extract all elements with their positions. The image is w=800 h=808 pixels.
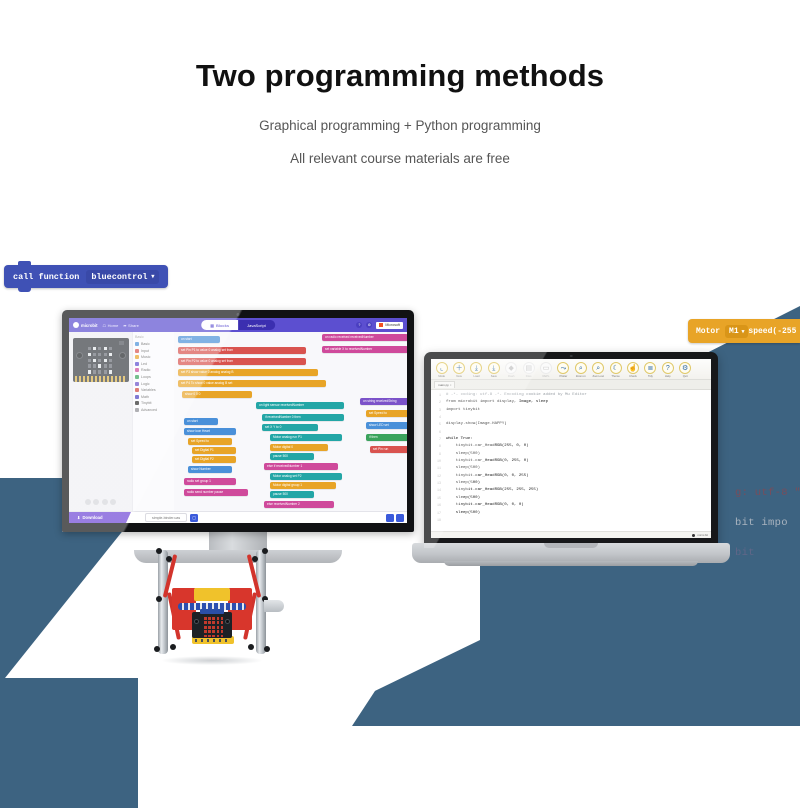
led [208,617,211,620]
makecode-block-label: set Pin P1 to value 0 analog set from [181,348,233,353]
faded-code-line-2: bit impo [735,508,800,538]
led [98,347,101,350]
simulator-fullscreen-icon[interactable] [110,499,116,505]
zoom-in-icon: ⌕ [575,362,587,374]
microbit-led-matrix [204,617,223,637]
plotter-icon: ⤳ [557,362,569,374]
robot-chassis [172,588,252,644]
makecode-block[interactable]: on string receivedString [360,398,407,405]
makecode-bottom-bar: ⬇ Download simple-binder.uas ▢ [69,511,407,523]
mu-toolbar-button-label: Tidy [648,375,653,378]
mu-toolbar-button-label: Load [473,375,479,378]
makecode-block[interactable]: set variable X to receivedNumber [322,346,407,353]
hero-subtitle-1: Graphical programming + Python programmi… [0,119,800,134]
toolbox-header: Basic [135,335,172,339]
simulator-controls[interactable] [85,499,117,507]
led [208,621,211,624]
theme-icon: ☾ [610,362,622,374]
code-line-number: 4 [431,414,441,421]
category-label: Advanced [141,408,157,412]
led [93,364,96,367]
toolbox-category[interactable]: Led [135,362,172,366]
quit-icon: ⚙ [679,362,691,374]
makecode-block-label: set Pin P2 to value 0 analog set from [181,359,233,364]
simulator-button-a[interactable] [76,352,83,359]
toolbox-category[interactable]: Input [135,349,172,353]
makecode-block[interactable]: set Pin run [370,446,407,453]
mu-toolbar-zoom-in-button[interactable]: ⌕Zoom-in [572,362,589,378]
save-icon: ⤓ [488,362,500,374]
mu-toolbar-load-button[interactable]: ⤓Load [468,362,485,378]
category-color-swatch [135,395,139,399]
mu-toolbar-save-button[interactable]: ⤓Save [485,362,502,378]
led [98,364,101,367]
led [221,626,224,629]
category-label: Variables [141,388,156,392]
code-line-number: 15 [431,495,441,502]
category-color-swatch [135,342,139,346]
microbit-logo-icon [73,322,79,328]
makecode-block[interactable]: set Digital P1 [192,447,236,454]
laptop-lid-notch [544,543,598,548]
category-color-swatch [135,368,139,372]
makecode-topbar: microbit ☖ Home ➦ Share ▦ Blocks Java [69,318,407,332]
code-line: from microbit import display, Image, sle… [446,399,711,406]
robot-yellow-plate [194,588,230,601]
makecode-block-label: show Number [191,467,211,472]
led [208,626,211,629]
code-line: tinybit.car_HeadRGB(0, 0, 0) [446,502,711,509]
led [204,617,207,620]
code-line: sleep(500) [446,495,711,502]
makecode-block-label: set Digital P1 [195,448,214,453]
filename-input[interactable]: simple-binder.uas [145,513,187,522]
toolbox-category[interactable]: Advanced [135,408,172,412]
mu-toolbar-quit-button[interactable]: ⚙Quit [676,362,693,378]
makecode-share-button[interactable]: ➦ Share [123,323,139,328]
mu-toolbar-help-button[interactable]: ?Help [659,362,676,378]
tab-blocks[interactable]: ▦ Blocks [201,320,238,330]
mu-toolbar-button-label: Check [629,375,637,378]
led [217,626,220,629]
category-color-swatch [135,401,139,405]
makecode-block[interactable]: if receivedNumber 0 then [262,414,344,421]
gear-icon[interactable]: ⚙ [366,322,372,328]
mu-editor-code-area[interactable]: 123456789101112131415161718 # -*- coding… [431,390,711,531]
makecode-home-button[interactable]: ☖ Home [103,323,119,328]
download-icon: ⬇ [77,515,81,520]
robot-knob [264,646,270,652]
code-line: tinybit.car_HeadRGB(255, 0, 0) [446,443,711,450]
makecode-block-label: on light sensor receivedNumber [259,403,304,408]
code-line-number: 7 [431,436,441,443]
makecode-block[interactable]: on light sensor receivedNumber [256,402,344,409]
code-line-number: 10 [431,458,441,465]
mu-editor-tab-bar[interactable]: main.py × [431,380,711,390]
robot-base-connectors [195,639,231,642]
led [221,630,224,633]
code-text[interactable]: # -*- coding: utf-8 -*- Encoding cookie … [444,390,711,531]
makecode-block-label: radio send number pause [187,490,223,495]
mode-icon: ⌞ [436,362,448,374]
led [109,347,112,350]
category-label: Tinybit [141,401,151,405]
mu-toolbar-tidy-button[interactable]: ≣Tidy [642,362,659,378]
status-device-label: micro:bit [697,533,708,537]
makecode-block-label: set variable X to receivedNumber [325,347,372,352]
simulator-stop-icon[interactable] [93,499,99,505]
mu-toolbar-files-button: ▤Files [520,362,537,378]
makecode-block[interactable]: Motor digital 0 [270,444,328,451]
category-label: Input [141,349,149,353]
code-line: tinybit.car_HeadRGB(0, 255, 0) [446,458,711,465]
block-notch-bottom [700,342,712,343]
makecode-block-label: pause 500 [273,492,288,497]
mu-toolbar-button-label: Flash [508,375,515,378]
block-dropdown-value: M1 [729,327,739,336]
led [208,635,211,638]
toolbox-category[interactable]: Logic [135,382,172,386]
makecode-view-toggle[interactable]: ▦ Blocks JavaScript [201,320,275,330]
toolbox-category-list[interactable]: BasicInputMusicLedRadioLoopsLogicVariabl… [135,342,172,412]
makecode-block-label: on start [181,337,192,342]
code-line-number: 3 [431,407,441,414]
led [104,347,107,350]
makecode-block-label: show icon Heart [187,429,210,434]
code-line [446,414,711,421]
block-label-call-function: call function [13,272,79,282]
code-line-number: 5 [431,421,441,428]
block-dropdown-motor-port[interactable]: M1 ▾ [725,325,748,338]
microsoft-logo-icon [379,323,383,327]
makecode-block[interactable]: radio send number pause [184,489,248,496]
led [221,617,224,620]
led [109,359,112,362]
led [93,353,96,356]
makecode-logo-label: microbit [81,323,98,328]
makecode-block[interactable]: set Pin P1 to value 0 analog set from [178,347,306,354]
simulator-restart-icon[interactable] [85,499,91,505]
chevron-down-icon: ▾ [151,273,154,280]
led [88,353,91,356]
makecode-block-label: if receivedNumber 0 then [265,415,301,420]
floating-block-call-function[interactable]: call function bluecontrol ▾ [4,265,168,288]
makecode-share-label: Share [128,323,139,328]
simulator-led-matrix [88,347,113,374]
led [212,626,215,629]
toolbox-category[interactable]: Loops [135,375,172,379]
close-icon[interactable]: × [450,383,452,387]
load-icon: ⤓ [470,362,482,374]
makecode-block[interactable]: show LED set [366,422,407,429]
makecode-block[interactable]: set Digital P2 [192,456,236,463]
mu-toolbar-check-button[interactable]: ☝Check [624,362,641,378]
led [212,621,215,624]
blocks-icon: ▦ [210,323,214,328]
makecode-block-label: pause 500 [273,454,288,459]
makecode-block[interactable]: if then [366,434,407,441]
help-icon: ? [662,362,674,374]
led [208,630,211,633]
makecode-block-label: set Pin run [373,447,388,452]
code-line: tinybit.car_HeadRGB(0, 0, 255) [446,473,711,480]
led [88,364,91,367]
simulator-button-b[interactable] [119,352,126,359]
save-button[interactable]: ▢ [190,514,198,522]
category-label: Math [141,395,149,399]
makecode-block-canvas[interactable]: on startset Pin P1 to value 0 analog set… [174,332,407,511]
microsoft-badge[interactable]: Microsoft [376,322,403,329]
code-line-number: 1 [431,392,441,399]
tab-main-py[interactable]: main.py × [434,381,455,388]
category-label: Radio [141,368,150,372]
code-line: sleep(500) [446,510,711,517]
block-dropdown-value: bluecontrol [91,272,147,282]
category-color-swatch [135,382,139,386]
toolbox-category[interactable]: Basic [135,342,172,346]
code-line-number: 2 [431,399,441,406]
makecode-block-label: on string receivedString [363,399,397,404]
microbit-robot-car [148,548,276,666]
code-line: sleep(500) [446,451,711,458]
makecode-block-label: radio set group 1 [187,479,211,484]
led [88,359,91,362]
code-line [446,429,711,436]
faded-code-overlay: g: utf-8 " bit impo bit [735,478,800,568]
robot-knob [262,548,268,554]
makecode-block-label: set Speed to [369,411,387,416]
mu-toolbar-button-label: Mode [438,375,445,378]
led [217,617,220,620]
led [212,617,215,620]
faded-code-line-3: bit [735,538,800,568]
mu-toolbar-button-label: Plotter [560,375,568,378]
new-icon: ＋ [453,362,465,374]
makecode-block-label: else receivedNumber 2 [267,502,300,507]
robot-shadow [162,656,262,665]
download-label: Download [83,515,103,520]
mu-toolbar-button-label: REPL [543,375,550,378]
robot-left-rod [158,550,168,654]
led [212,630,215,633]
microbit-button-b [225,619,230,624]
led [93,359,96,362]
mu-toolbar-mode-button[interactable]: ⌞Mode [433,362,450,378]
mu-toolbar-plotter-button[interactable]: ⤳Plotter [555,362,572,378]
mu-toolbar-button-label: Theme [611,375,619,378]
code-line-number: 12 [431,473,441,480]
toolbox-category[interactable]: Variables [135,388,172,392]
desktop-monitor: microbit ☖ Home ➦ Share ▦ Blocks Java [62,310,414,560]
toolbox-category[interactable]: Radio [135,368,172,372]
hero-subtitle-2: All relevant course materials are free [0,151,800,166]
led [204,630,207,633]
makecode-block-label: set Speed to [191,439,209,444]
makecode-block-label: set Digital P2 [195,457,214,462]
mu-editor-window[interactable]: ⌞Mode＋New⤓Load⤓Save◆Flash▤Files▭REPL⤳Plo… [431,359,711,538]
led [104,359,107,362]
block-notch-top [700,319,712,320]
makecode-home-label: Home [108,323,119,328]
category-color-swatch [135,388,139,392]
mu-toolbar-new-button[interactable]: ＋New [450,362,467,378]
makecode-bottom-right-buttons[interactable] [386,514,407,522]
mu-editor-toolbar[interactable]: ⌞Mode＋New⤓Load⤓Save◆Flash▤Files▭REPL⤳Plo… [431,359,711,380]
led [104,353,107,356]
files-icon: ▤ [523,362,535,374]
code-line: sleep(500) [446,480,711,487]
led [93,370,96,373]
makecode-block[interactable]: pause 500 [270,491,314,498]
faded-code-line-1: g: utf-8 " [735,478,800,508]
makecode-block[interactable]: on start [178,336,220,343]
toolbox-category[interactable]: Music [135,355,172,359]
makecode-block[interactable]: show 0 0 0 [182,391,252,398]
code-line-number: 6 [431,429,441,436]
robot-knob [252,556,258,562]
code-line: # -*- coding: utf-8 -*- Encoding cookie … [446,392,711,399]
category-color-swatch [135,349,139,353]
microbit-header-strip [200,609,224,614]
check-icon: ☝ [627,362,639,374]
led [109,370,112,373]
makecode-logo[interactable]: microbit [73,322,98,328]
makecode-block[interactable]: on radio received receivedNumber [322,334,407,341]
led [98,359,101,362]
code-line-numbers: 123456789101112131415161718 [431,390,444,531]
tab-javascript-label: JavaScript [247,323,266,328]
led [104,364,107,367]
block-label-motor-speed: speed(-255 [748,327,796,336]
makecode-block[interactable]: set Speed to [366,410,407,417]
led [109,353,112,356]
led [93,347,96,350]
help-icon[interactable]: ? [356,322,362,328]
makecode-block[interactable]: else if receivedNumber 1 [264,463,338,470]
category-color-swatch [135,355,139,359]
makecode-block[interactable]: Motor digital group 1 [270,482,336,489]
makecode-body: Basic BasicInputMusicLedRadioLoopsLogicV… [69,332,407,511]
category-label: Basic [141,342,150,346]
robot-knob [156,596,162,602]
laptop: ⌞Mode＋New⤓Load⤓Save◆Flash▤Files▭REPL⤳Plo… [412,352,730,584]
makecode-block-label: set X Y to 0 [265,425,281,430]
category-label: Logic [141,382,150,386]
code-line-number: 18 [431,517,441,524]
robot-knob [156,548,162,554]
mu-toolbar-button-label: Help [665,375,671,378]
category-label: Loops [141,375,151,379]
makecode-block[interactable]: set X Y to 0 [262,424,318,431]
monitor-bezel: microbit ☖ Home ➦ Share ▦ Blocks Java [62,310,414,532]
makecode-block-label: show 0 0 0 [185,392,200,397]
makecode-block[interactable]: pause 500 [270,453,314,460]
led [217,621,220,624]
makecode-block-label: Motor digital group 1 [273,483,302,488]
makecode-block-label: on start [187,419,198,424]
led [221,621,224,624]
tab-javascript[interactable]: JavaScript [238,320,275,330]
mu-toolbar-button-label: Files [526,375,532,378]
makecode-simulator[interactable] [69,332,132,511]
laptop-lid: ⌞Mode＋New⤓Load⤓Save◆Flash▤Files▭REPL⤳Plo… [424,352,718,548]
led [88,370,91,373]
project-filename-group[interactable]: simple-binder.uas ▢ [131,513,386,522]
flash-icon: ◆ [505,362,517,374]
makecode-block[interactable]: on start [184,418,218,425]
makecode-toolbox[interactable]: Basic BasicInputMusicLedRadioLoopsLogicV… [132,332,174,511]
robot-microbit-board [192,612,232,638]
makecode-block[interactable]: show icon Heart [184,428,236,435]
makecode-block-label: else if receivedNumber 1 [267,464,302,469]
mu-toolbar-theme-button[interactable]: ☾Theme [607,362,624,378]
led [212,635,215,638]
simulator-microbit [73,338,129,382]
led [204,626,207,629]
floating-block-motor[interactable]: Motor M1 ▾ speed(-255 [688,319,800,343]
robot-knob [154,646,160,652]
makecode-block-label: if then [369,435,378,440]
makecode-block-label: Motor digital 0 [273,445,293,450]
block-notch-bottom [18,287,31,292]
code-line [446,517,711,524]
repl-icon: ▭ [540,362,552,374]
makecode-block[interactable]: set Speed to [188,438,232,445]
makecode-block[interactable]: show Number [188,466,232,473]
code-line-number: 14 [431,487,441,494]
makecode-block-label: on radio received receivedNumber [325,335,374,340]
block-dropdown-bluecontrol[interactable]: bluecontrol ▾ [86,270,159,284]
category-color-swatch [135,375,139,379]
code-line-number: 8 [431,443,441,450]
makecode-editor-window[interactable]: microbit ☖ Home ➦ Share ▦ Blocks Java [69,318,407,523]
led [217,635,220,638]
category-color-swatch [135,362,139,366]
undo-button[interactable] [386,514,394,522]
code-line: display.show(Image.HAPPY) [446,421,711,428]
microbit-button-a [194,619,199,624]
makecode-block[interactable]: Motor analog set P2 [270,473,342,480]
makecode-block[interactable]: radio set group 1 [184,478,236,485]
category-color-swatch [135,408,139,412]
code-line-number: 13 [431,480,441,487]
code-line-number: 9 [431,451,441,458]
download-button[interactable]: ⬇ Download [69,512,131,523]
webcam-icon [237,313,240,316]
toolbox-category[interactable]: Tinybit [135,401,172,405]
chevron-down-icon: ▾ [742,328,745,335]
robot-knob [170,644,176,650]
toolbox-category[interactable]: Math [135,395,172,399]
mu-toolbar-zoom-out-button[interactable]: ⌕Zoom-out [590,362,607,378]
makecode-block[interactable]: set P3 show value 0 analog analog B [178,369,318,376]
led [98,353,101,356]
led [88,347,91,350]
block-notch-top [18,261,31,266]
microbit-chip-icon [119,341,124,345]
mu-toolbar-button-label: Quit [683,375,688,378]
robot-gripper [264,600,284,612]
makecode-block[interactable]: Motor analog run P1 [270,434,342,441]
zoom-out-icon: ⌕ [592,362,604,374]
makecode-block[interactable]: set Pin P2 to value 0 analog set from [178,358,306,365]
makecode-block-label: Motor analog run P1 [273,435,302,440]
zoom-in-button[interactable] [396,514,404,522]
mu-toolbar-button-label: Zoom-out [592,375,604,378]
makecode-block[interactable]: else receivedNumber 2 [264,501,334,508]
simulator-mute-icon[interactable] [102,499,108,505]
makecode-block[interactable]: set P4 To show 0 value analog B set [178,380,326,387]
